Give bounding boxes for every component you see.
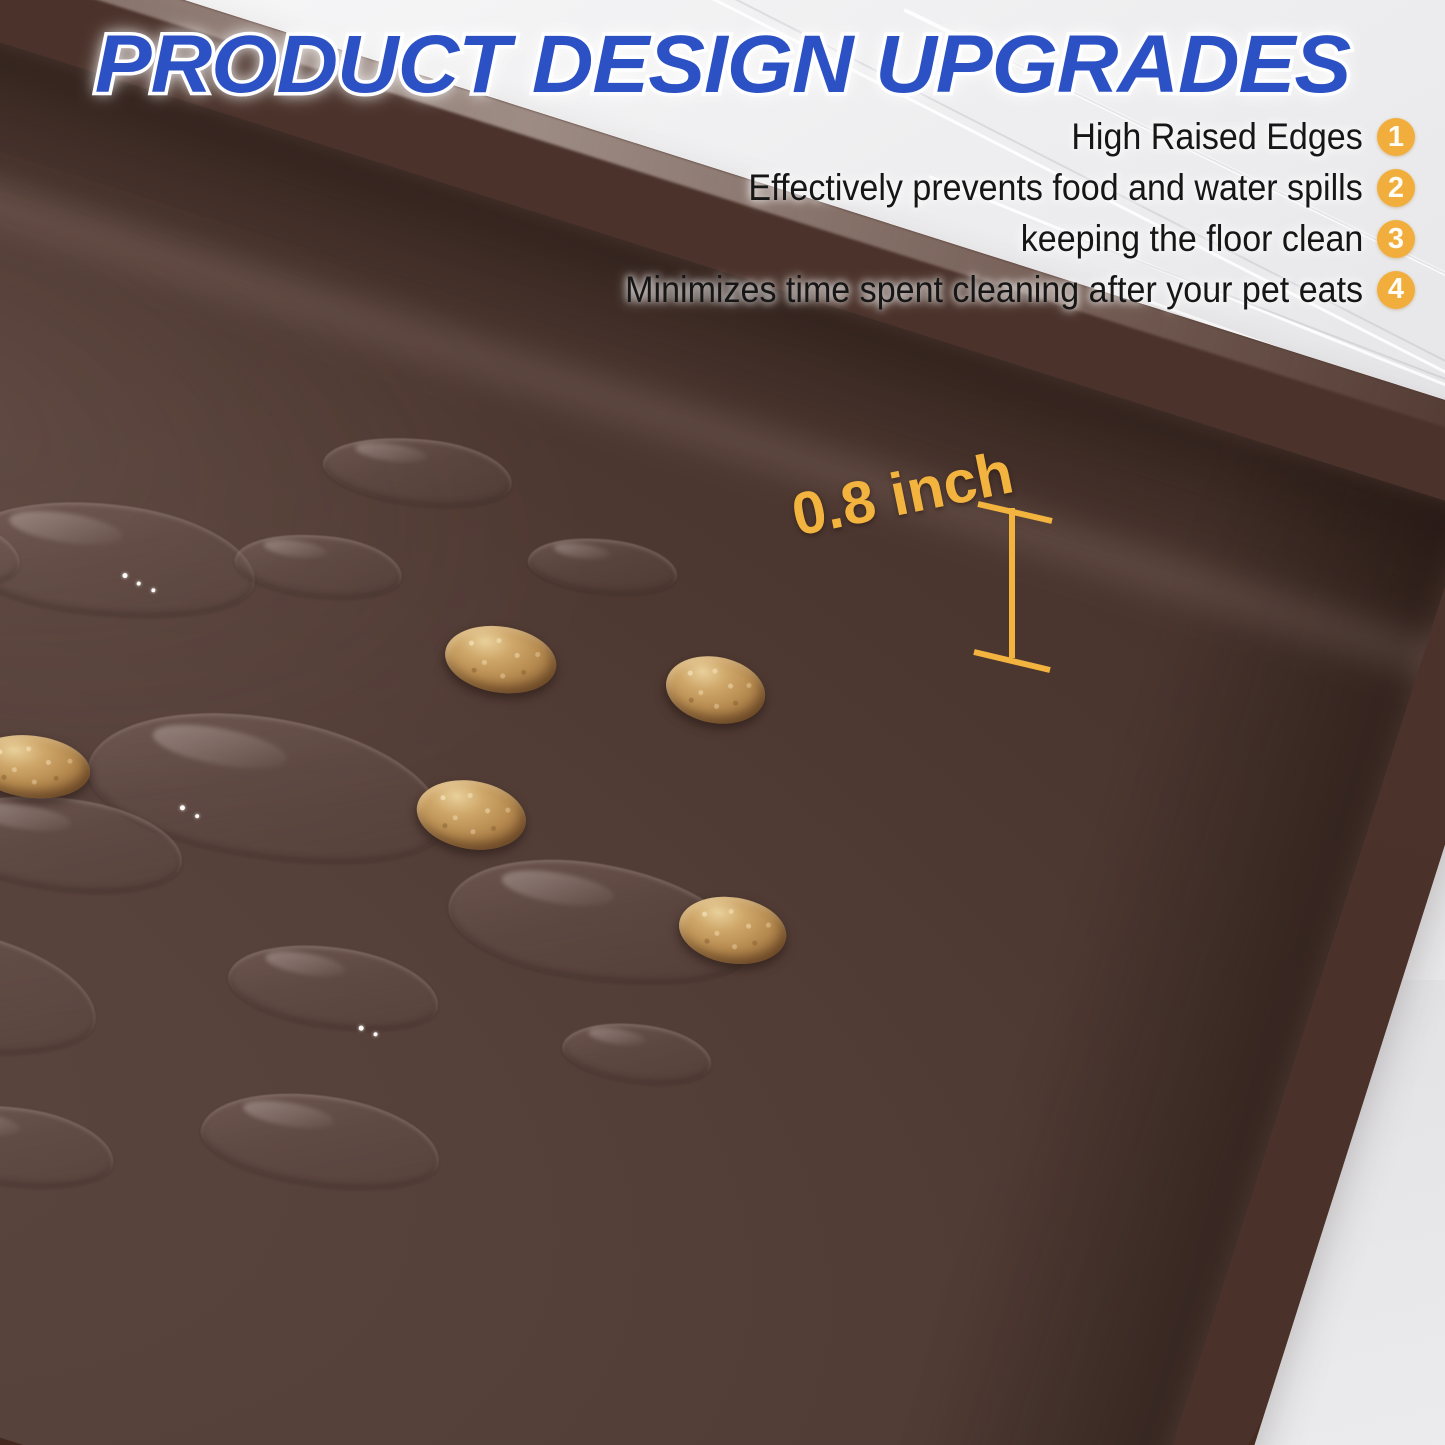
feature-row: High Raised Edges 1	[415, 118, 1415, 157]
water-sparkle	[358, 1025, 364, 1031]
feature-text: keeping the floor clean	[1020, 220, 1363, 259]
kibble-piece	[660, 648, 770, 731]
feature-text: High Raised Edges	[1072, 118, 1363, 157]
feature-number-badge: 2	[1377, 169, 1415, 207]
water-droplet	[0, 900, 107, 1077]
water-droplet	[195, 1076, 447, 1205]
water-droplet	[559, 1013, 716, 1093]
feature-text: Minimizes time spent cleaning after your…	[625, 271, 1363, 310]
water-sparkle	[373, 1032, 378, 1037]
water-droplet	[0, 1092, 119, 1201]
feature-row: keeping the floor clean 3	[415, 220, 1415, 259]
product-marketing-image: PRODUCT DESIGN UPGRADES High Raised Edge…	[0, 0, 1445, 1445]
feature-number-badge: 1	[1377, 118, 1415, 156]
page-title: PRODUCT DESIGN UPGRADES	[0, 18, 1445, 112]
feature-row: Minimizes time spent cleaning after your…	[415, 271, 1415, 310]
feature-row: Effectively prevents food and water spil…	[415, 169, 1415, 208]
feature-number-badge: 3	[1377, 220, 1415, 258]
feature-number-badge: 4	[1377, 271, 1415, 309]
feature-list: High Raised Edges 1 Effectively prevents…	[415, 118, 1415, 309]
feature-text: Effectively prevents food and water spil…	[749, 169, 1363, 208]
